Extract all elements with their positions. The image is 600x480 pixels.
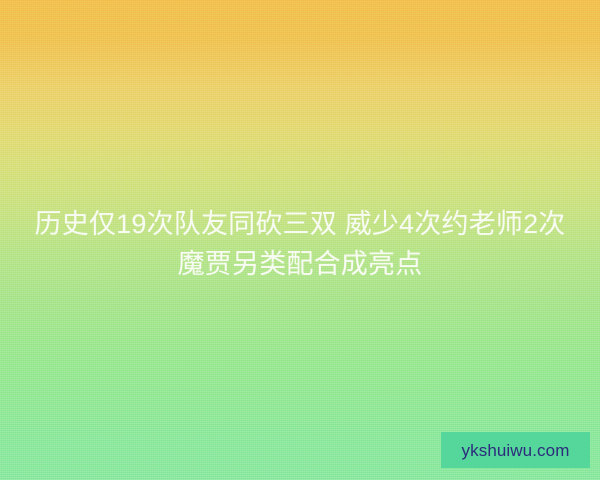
watermark-badge: ykshuiwu.com [441, 432, 590, 468]
image-canvas: 历史仅19次队友同砍三双 威少4次约老师2次 魔贾另类配合成亮点 ykshuiw… [0, 0, 600, 480]
headline-text: 历史仅19次队友同砍三双 威少4次约老师2次 魔贾另类配合成亮点 [0, 204, 600, 284]
watermark-label: ykshuiwu.com [462, 442, 570, 459]
